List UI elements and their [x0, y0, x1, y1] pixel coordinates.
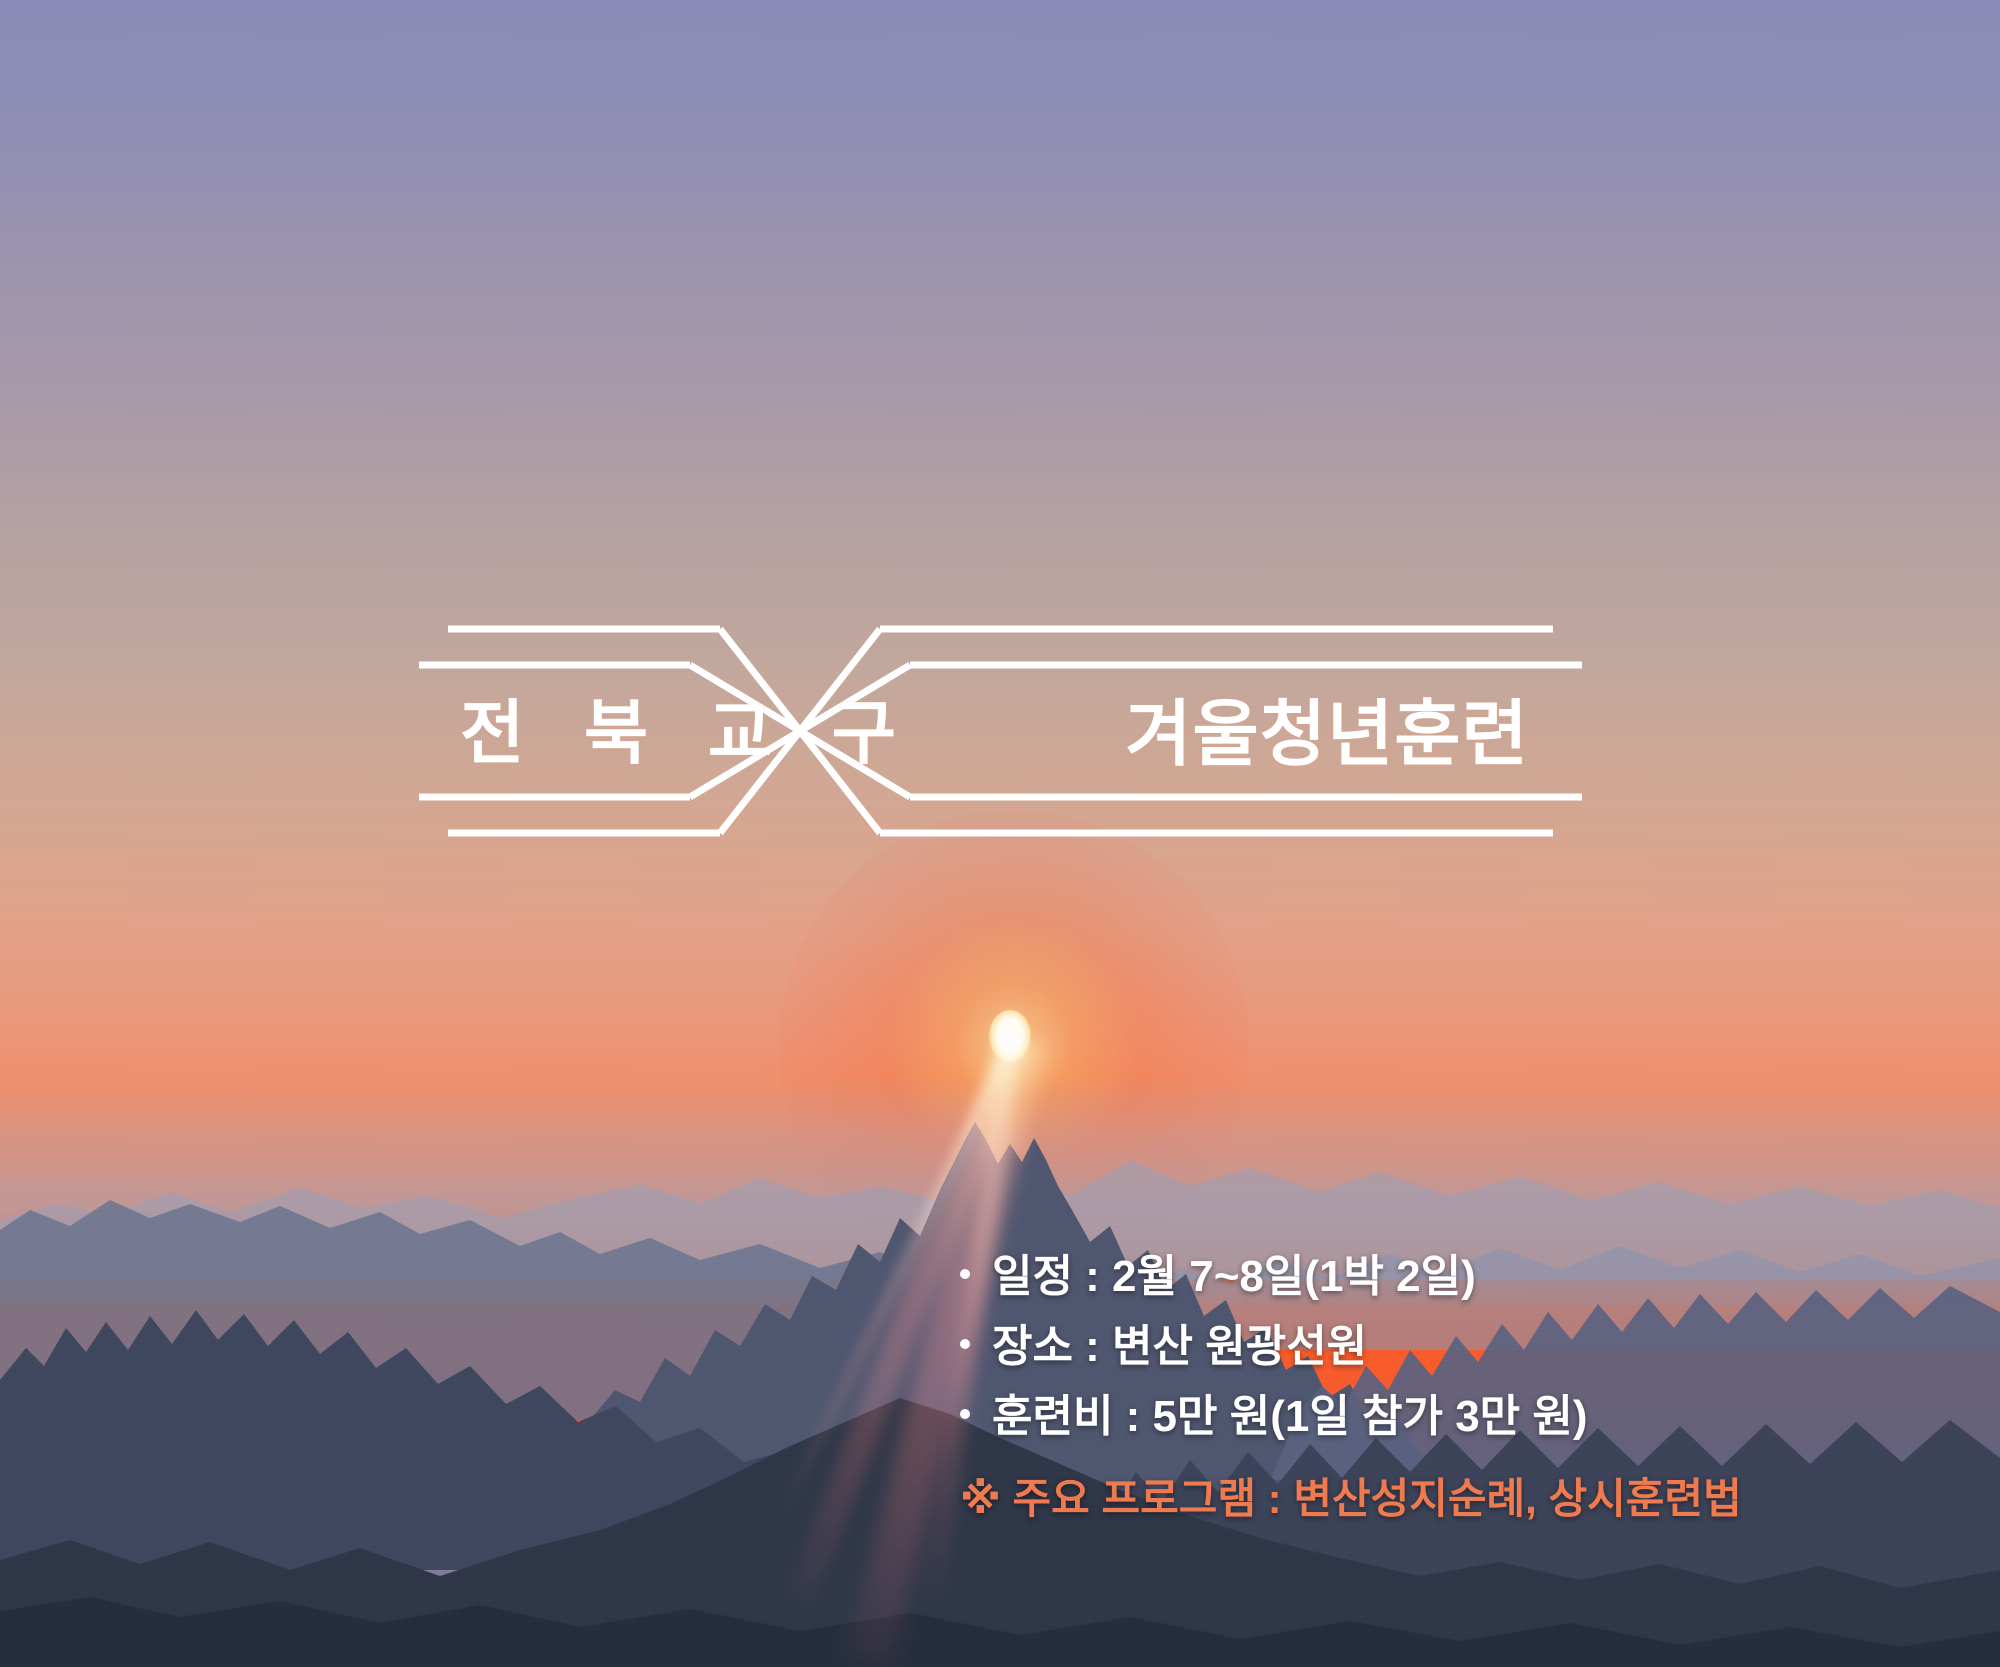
- detail-location-text: 장소 : 변산 원광선원: [992, 1325, 1367, 1369]
- poster-canvas: 전 북 교 구 겨울청년훈련 일정 : 2월 7~8일(1박 2일) 장소 : …: [0, 0, 2000, 1667]
- program-note: ※ 주요 프로그램 : 변산성지순례, 상시훈련법: [960, 1465, 1940, 1526]
- bullet-icon: [960, 1409, 970, 1419]
- mountain-range-icon-foreground-deep: [0, 1545, 2000, 1667]
- detail-schedule-text: 일정 : 2월 7~8일(1박 2일): [992, 1255, 1476, 1299]
- title-right-text: 겨울청년훈련: [1092, 660, 1562, 794]
- list-item: 훈련비 : 5만 원(1일 참가 3만 원): [960, 1395, 1940, 1439]
- title-left-text: 전 북 교 구: [448, 660, 908, 794]
- bullet-icon: [960, 1269, 970, 1279]
- detail-fee-text: 훈련비 : 5만 원(1일 참가 3만 원): [992, 1395, 1588, 1439]
- details-block: 일정 : 2월 7~8일(1박 2일) 장소 : 변산 원광선원 훈련비 : 5…: [960, 1255, 1940, 1526]
- list-item: 일정 : 2월 7~8일(1박 2일): [960, 1255, 1940, 1299]
- sun-icon: [989, 1010, 1031, 1062]
- list-item: 장소 : 변산 원광선원: [960, 1325, 1940, 1369]
- bullet-icon: [960, 1339, 970, 1349]
